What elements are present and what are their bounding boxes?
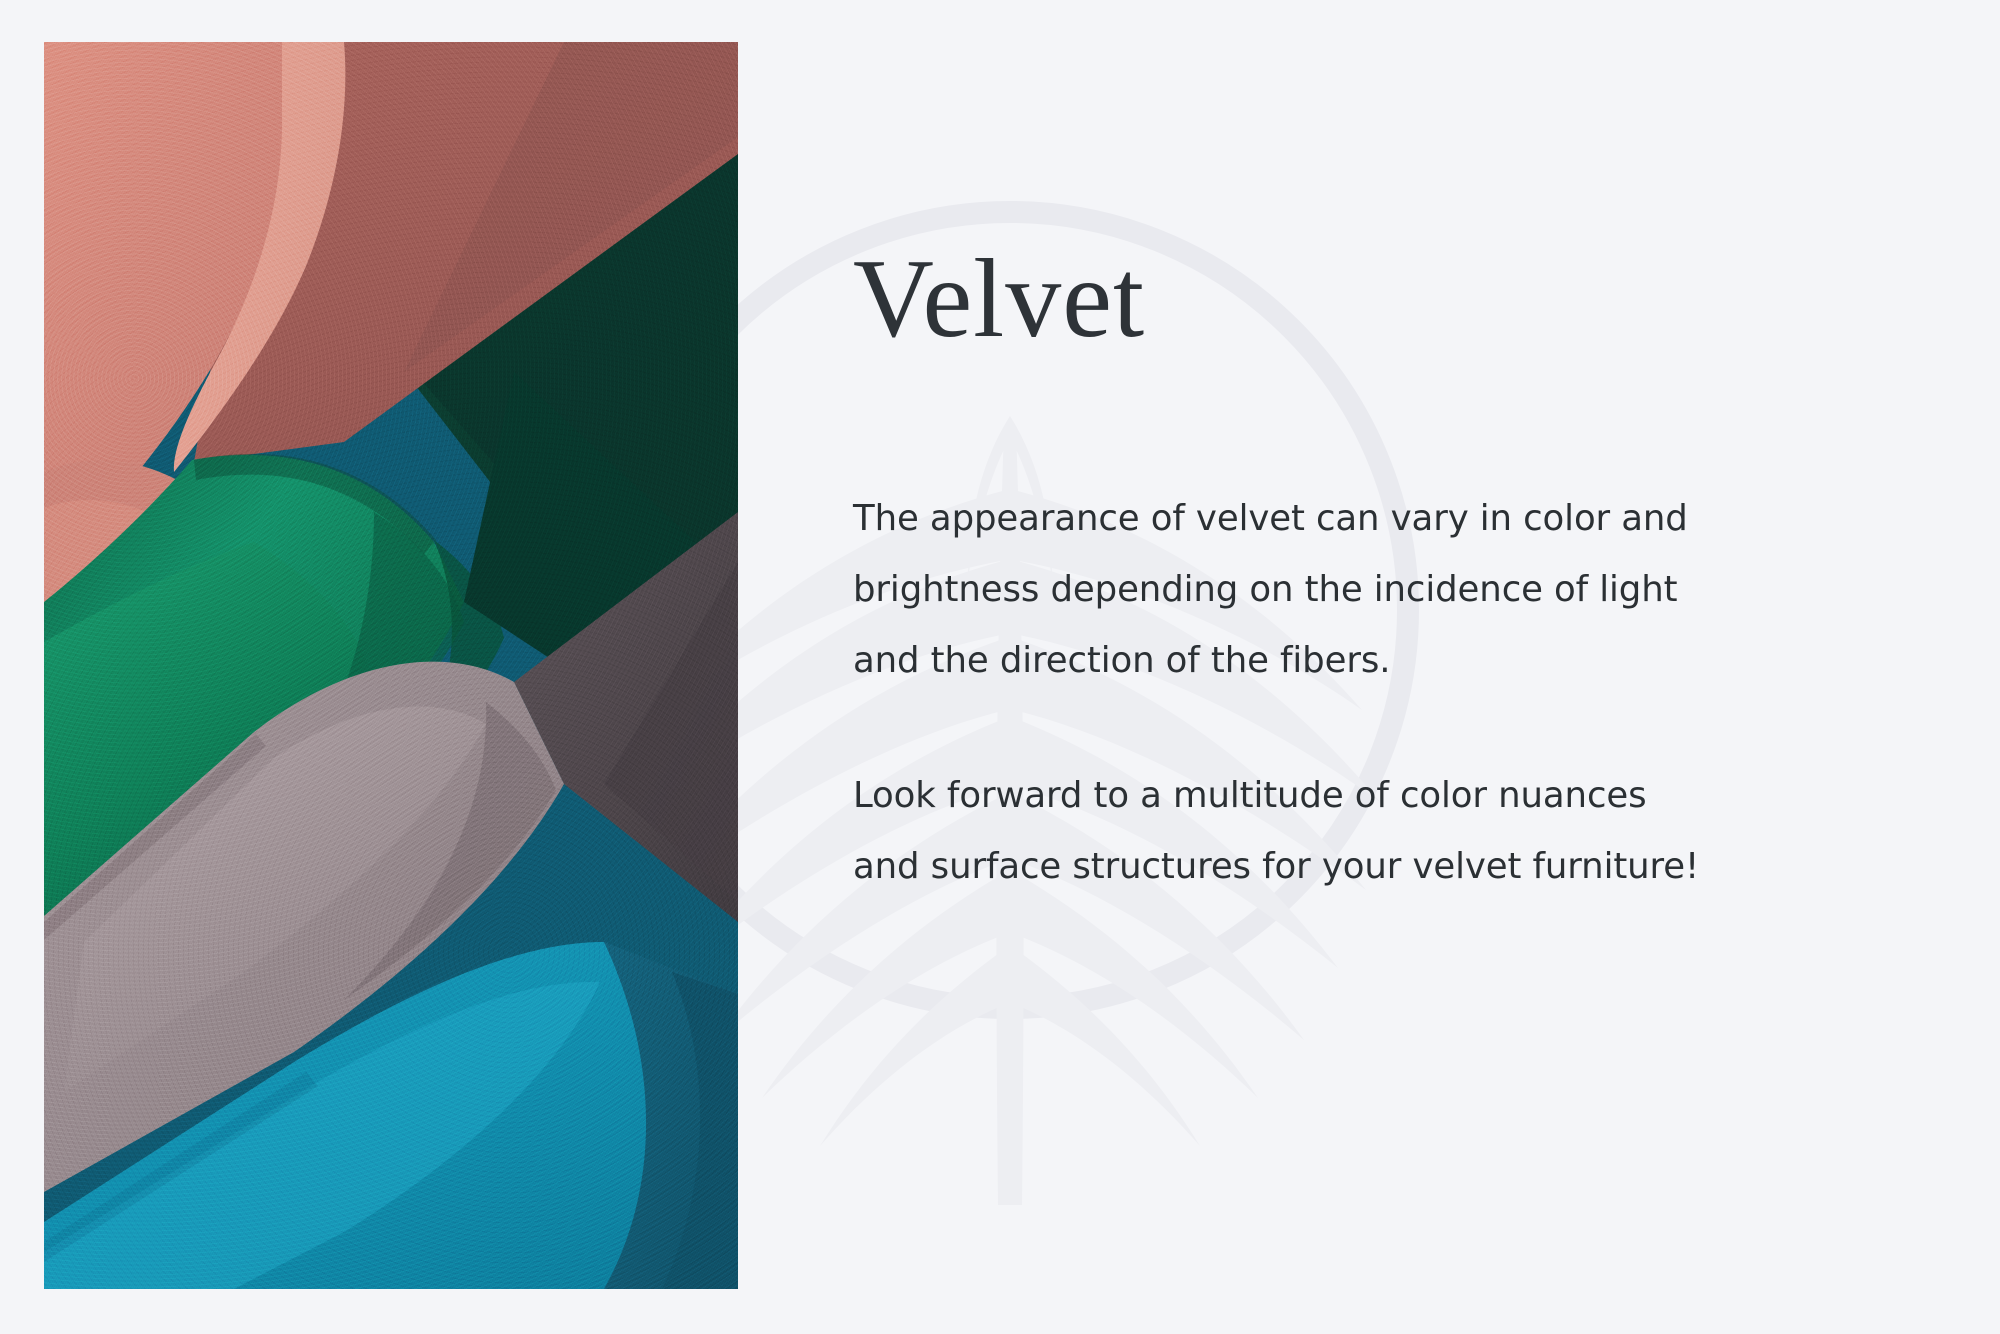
text-column: Velvet The appearance of velvet can vary… — [853, 0, 1893, 1334]
description-paragraph-2: Look forward to a multitude of color nua… — [853, 760, 1863, 902]
page-title: Velvet — [853, 238, 1145, 361]
velvet-fabric-swatches-photo — [44, 42, 738, 1289]
description-paragraph-1: The appearance of velvet can vary in col… — [853, 483, 1863, 696]
page-root: Velvet The appearance of velvet can vary… — [0, 0, 2000, 1334]
